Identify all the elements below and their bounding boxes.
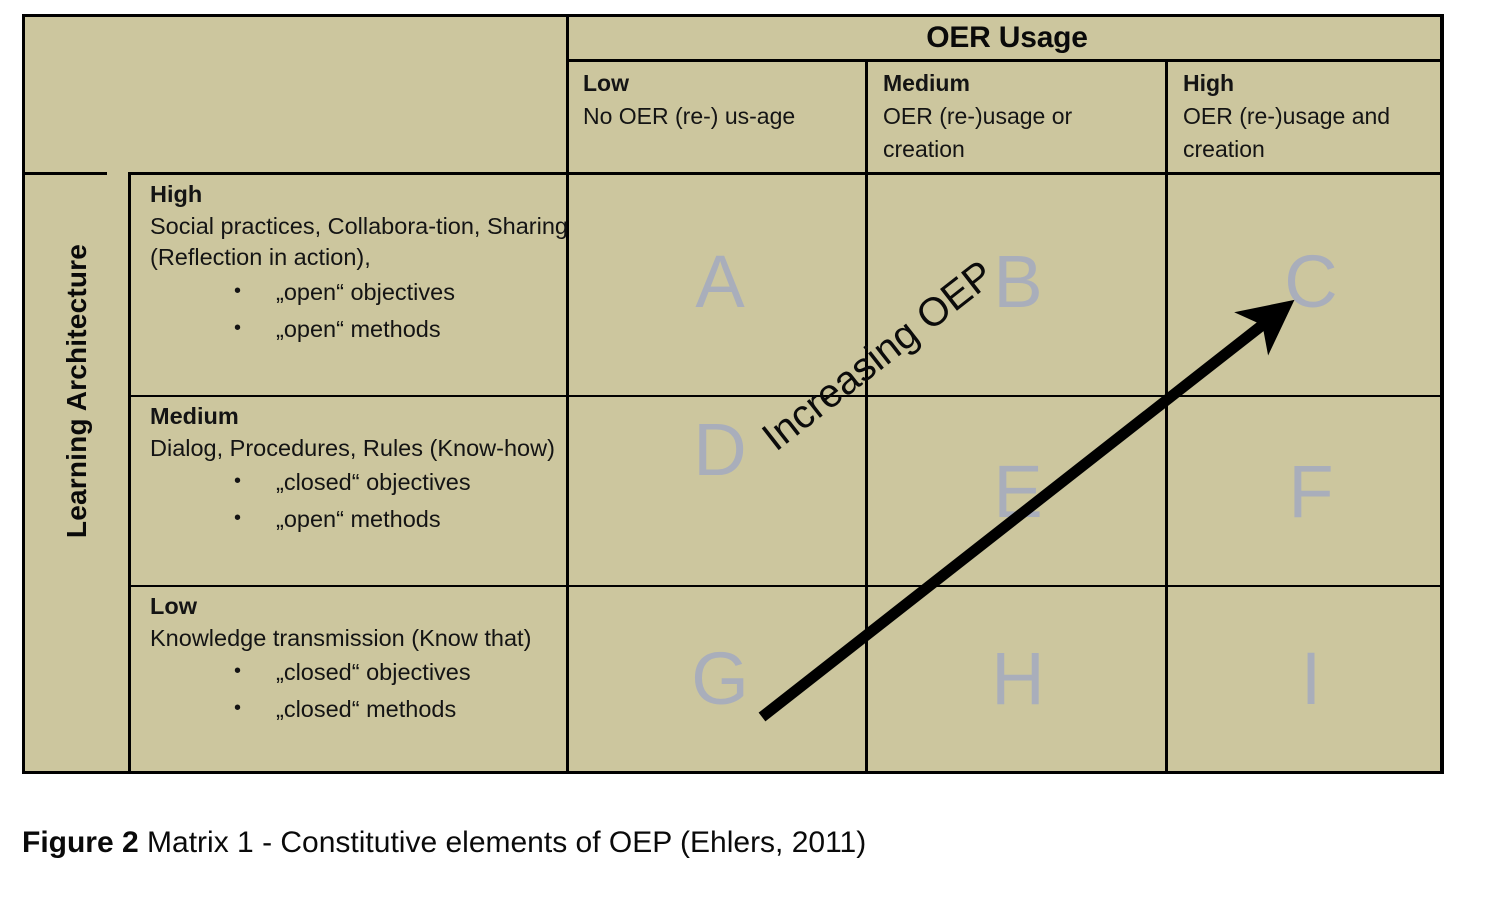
figure-caption: Figure 2 Matrix 1 - Constitutive element… bbox=[22, 826, 866, 860]
row-header-high-level: High bbox=[150, 179, 575, 211]
matrix-cell-h: H bbox=[978, 642, 1058, 716]
row-header-medium: Medium Dialog, Procedures, Rules (Know-h… bbox=[150, 401, 575, 538]
grid-line-h-row-high-medium bbox=[130, 395, 1444, 397]
column-axis-title: OER Usage bbox=[571, 21, 1443, 55]
matrix-cell-a: A bbox=[680, 245, 760, 319]
list-item: „open“ objectives bbox=[150, 274, 575, 311]
column-header-medium-level: Medium bbox=[883, 67, 1155, 100]
oep-matrix-table: OER Usage Low No OER (re-) us-age Medium… bbox=[22, 14, 1444, 774]
grid-line-v-col2-col3 bbox=[1165, 59, 1168, 774]
grid-line-h-row-medium-low bbox=[130, 585, 1444, 587]
row-header-low-bullets: „closed“ objectives „closed“ methods bbox=[150, 654, 575, 728]
list-item: „open“ methods bbox=[150, 501, 575, 538]
row-header-high: High Social practices, Collabora-tion, S… bbox=[150, 179, 575, 348]
column-header-low: Low No OER (re-) us-age bbox=[583, 67, 853, 133]
matrix-cell-c: C bbox=[1271, 245, 1351, 319]
list-item: „closed“ methods bbox=[150, 691, 575, 728]
column-header-low-level: Low bbox=[583, 67, 853, 100]
matrix-cell-i: I bbox=[1271, 642, 1351, 716]
matrix-cell-f: F bbox=[1271, 455, 1351, 529]
figure-caption-label: Figure 2 bbox=[22, 826, 139, 859]
figure-2-oep-matrix: OER Usage Low No OER (re-) us-age Medium… bbox=[0, 0, 1488, 904]
row-axis-title: Learning Architecture bbox=[61, 96, 93, 686]
matrix-cell-b: B bbox=[978, 245, 1058, 319]
column-header-medium: Medium OER (re-)usage or creation bbox=[883, 67, 1155, 166]
list-item: „closed“ objectives bbox=[150, 464, 575, 501]
figure-caption-text: Matrix 1 - Constitutive elements of OEP … bbox=[147, 826, 866, 859]
column-header-high-level: High bbox=[1183, 67, 1439, 100]
matrix-cell-g: G bbox=[680, 642, 760, 716]
list-item: „closed“ objectives bbox=[150, 654, 575, 691]
row-header-high-bullets: „open“ objectives „open“ methods bbox=[150, 274, 575, 348]
row-header-low: Low Knowledge transmission (Know that) „… bbox=[150, 591, 575, 728]
row-header-medium-level: Medium bbox=[150, 401, 575, 433]
row-header-medium-description: Dialog, Procedures, Rules (Know-how) bbox=[150, 433, 575, 465]
column-header-low-description: No OER (re-) us-age bbox=[583, 100, 853, 133]
row-header-high-description: Social practices, Collabora-tion, Sharin… bbox=[150, 211, 575, 274]
grid-line-h-header-main bbox=[130, 172, 1444, 175]
grid-line-h-oer-usage-underline bbox=[566, 59, 1444, 62]
row-header-low-level: Low bbox=[150, 591, 575, 623]
matrix-cell-d: D bbox=[680, 413, 760, 487]
matrix-cell-e: E bbox=[978, 455, 1058, 529]
grid-line-v-col1-col2 bbox=[865, 59, 868, 774]
grid-line-v-description-left bbox=[128, 172, 131, 774]
list-item: „open“ methods bbox=[150, 311, 575, 348]
row-header-low-description: Knowledge transmission (Know that) bbox=[150, 623, 575, 655]
column-header-high: High OER (re-)usage and creation bbox=[1183, 67, 1439, 166]
row-header-medium-bullets: „closed“ objectives „open“ methods bbox=[150, 464, 575, 538]
column-header-medium-description: OER (re-)usage or creation bbox=[883, 100, 1155, 166]
column-header-high-description: OER (re-)usage and creation bbox=[1183, 100, 1439, 166]
